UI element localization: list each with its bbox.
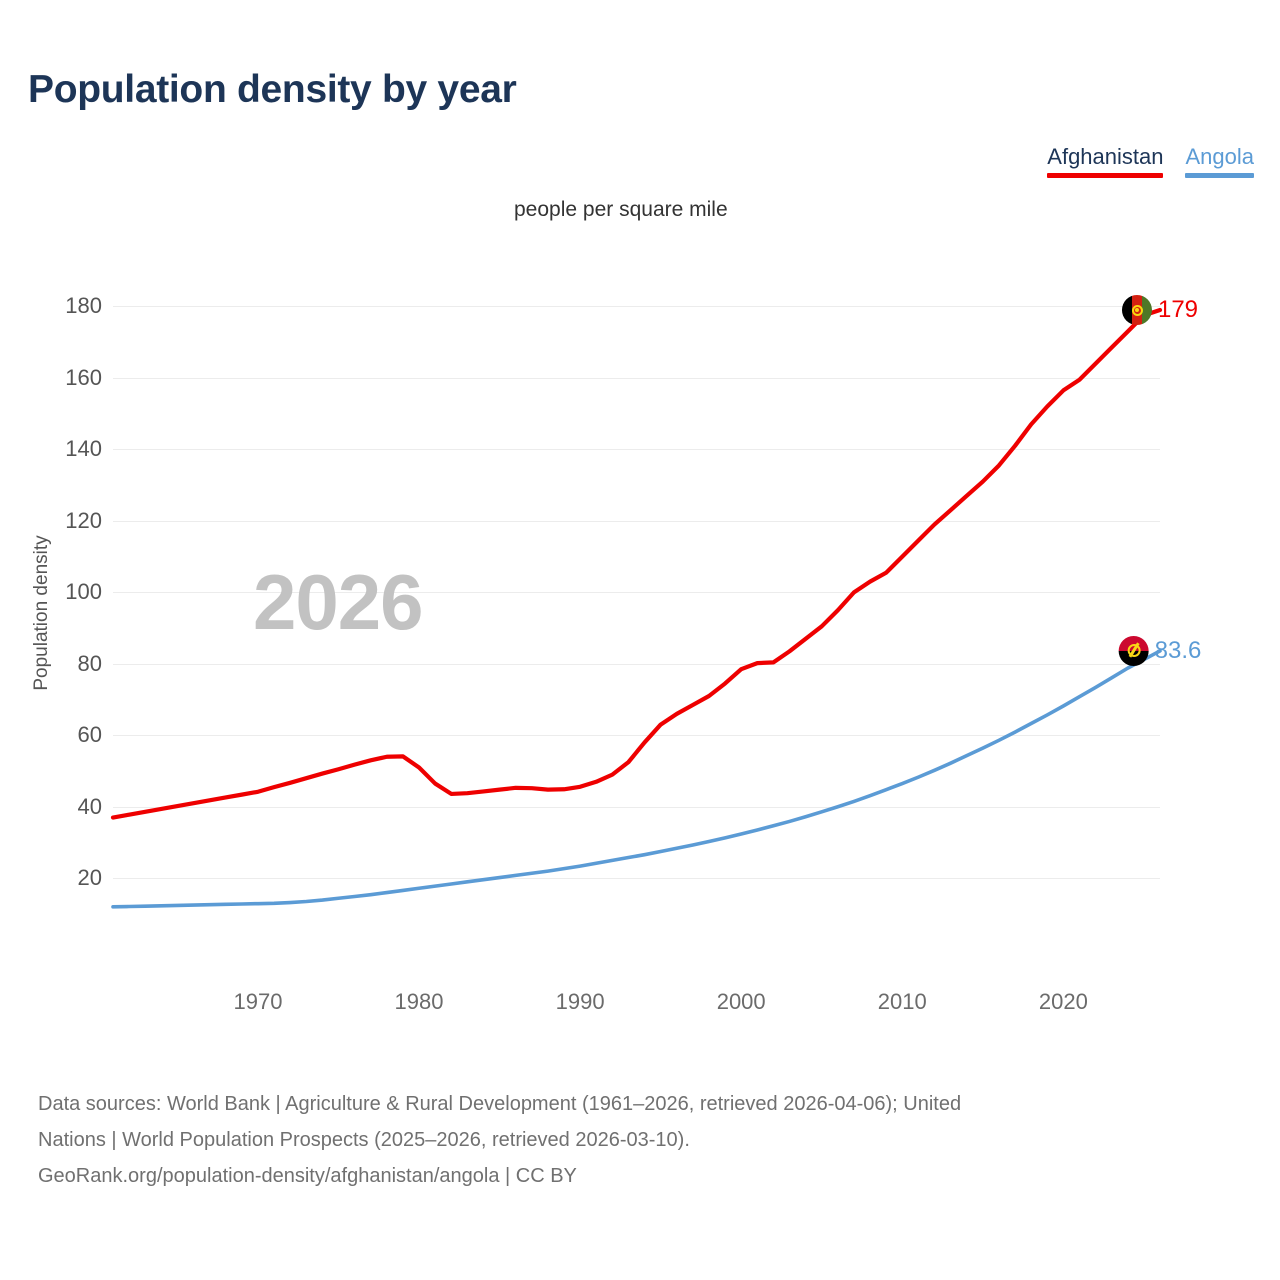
afghanistan-emblem-center-icon — [1135, 308, 1139, 312]
series-lines — [113, 285, 1160, 914]
chart-plot-area: 20406080100120140160180 2026 19701980199… — [113, 285, 1160, 914]
legend-label-angola: Angola — [1185, 144, 1254, 170]
x-axis-tick-label: 1980 — [395, 989, 444, 1015]
series-line-angola — [113, 651, 1160, 907]
legend: Afghanistan Angola — [1047, 144, 1254, 178]
angola-cog-icon — [1127, 644, 1140, 657]
angola-flag-icon — [1119, 636, 1149, 666]
page-title: Population density by year — [28, 68, 516, 112]
series-line-afghanistan — [113, 310, 1160, 817]
afghanistan-emblem-icon — [1131, 305, 1142, 316]
y-axis-tick-label: 60 — [78, 722, 102, 748]
y-axis-tick-label: 180 — [65, 293, 102, 319]
x-axis-tick-label: 2000 — [717, 989, 766, 1015]
y-axis-tick-label: 140 — [65, 436, 102, 462]
y-axis-tick-label: 120 — [65, 508, 102, 534]
footer-line-2: Nations | World Population Prospects (20… — [38, 1122, 1263, 1158]
legend-item-afghanistan[interactable]: Afghanistan — [1047, 144, 1163, 178]
footer-line-3: GeoRank.org/population-density/afghanist… — [38, 1158, 1263, 1194]
endpoint-angola[interactable]: 83.6 — [1119, 636, 1202, 666]
y-axis-tick-label: 20 — [78, 865, 102, 891]
x-axis-tick-label: 1990 — [556, 989, 605, 1015]
y-axis-tick-label: 80 — [78, 651, 102, 677]
legend-rule-angola — [1185, 173, 1254, 178]
endpoint-value-angola: 83.6 — [1155, 637, 1202, 665]
x-axis-tick-label: 2020 — [1039, 989, 1088, 1015]
footer-sources: Data sources: World Bank | Agriculture &… — [38, 1086, 1263, 1194]
legend-rule-afghanistan — [1047, 173, 1163, 178]
footer-line-1: Data sources: World Bank | Agriculture &… — [38, 1086, 1263, 1122]
x-axis-tick-label: 2010 — [878, 989, 927, 1015]
legend-label-afghanistan: Afghanistan — [1047, 144, 1163, 170]
y-axis-label: Population density — [31, 535, 53, 690]
y-axis-tick-label: 100 — [65, 579, 102, 605]
chart-subtitle: people per square mile — [514, 198, 728, 222]
x-axis-tick-label: 1970 — [233, 989, 282, 1015]
y-axis-tick-label: 160 — [65, 365, 102, 391]
endpoint-afghanistan[interactable]: 179 — [1122, 295, 1198, 325]
endpoint-value-afghanistan: 179 — [1158, 296, 1198, 324]
legend-item-angola[interactable]: Angola — [1185, 144, 1254, 178]
afghanistan-flag-icon — [1122, 295, 1152, 325]
y-axis-tick-label: 40 — [78, 794, 102, 820]
